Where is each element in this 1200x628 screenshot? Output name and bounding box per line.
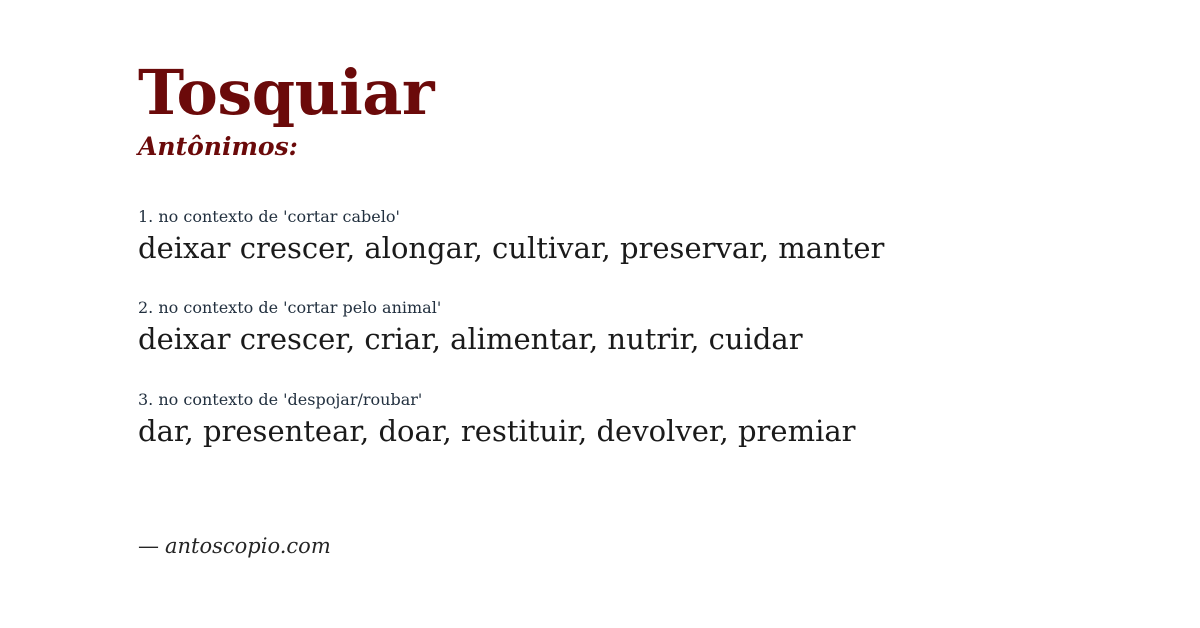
antonyms-card: Tosquiar Antônimos: 1. no contexto de 'c… xyxy=(0,0,1200,628)
sense-terms-list: dar, presentear, doar, restituir, devolv… xyxy=(138,413,1098,449)
source-attribution: —antoscopio.com xyxy=(138,534,331,559)
sense-entry: 1. no contexto de 'cortar cabelo' deixar… xyxy=(138,207,1098,266)
sense-terms-list: deixar crescer, criar, alimentar, nutrir… xyxy=(138,321,1098,357)
sense-entry: 2. no contexto de 'cortar pelo animal' d… xyxy=(138,298,1098,357)
sense-context-label: 2. no contexto de 'cortar pelo animal' xyxy=(138,298,1098,318)
source-site-name: antoscopio.com xyxy=(165,534,331,558)
section-subtitle: Antônimos: xyxy=(138,134,298,159)
sense-list: 1. no contexto de 'cortar cabelo' deixar… xyxy=(138,207,1098,449)
page-title: Tosquiar xyxy=(138,62,434,124)
sense-entry: 3. no contexto de 'despojar/roubar' dar,… xyxy=(138,390,1098,449)
sense-context-label: 3. no contexto de 'despojar/roubar' xyxy=(138,390,1098,410)
em-dash-icon: — xyxy=(138,534,165,558)
sense-terms-list: deixar crescer, alongar, cultivar, prese… xyxy=(138,230,1098,266)
sense-context-label: 1. no contexto de 'cortar cabelo' xyxy=(138,207,1098,227)
